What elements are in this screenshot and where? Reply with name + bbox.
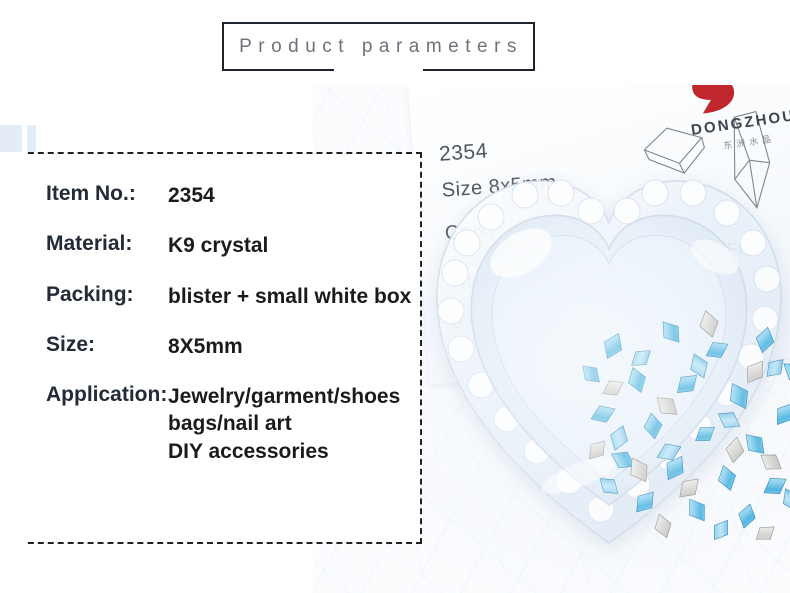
page-title: Product parameters <box>222 22 535 71</box>
spec-label-item-no: Item No.: <box>46 182 168 206</box>
spec-row-item-no: Item No.: 2354 <box>46 182 416 209</box>
page-title-box: Product parameters <box>222 22 535 71</box>
spec-label-size: Size: <box>46 333 168 357</box>
specs-panel-left-mask <box>0 152 26 544</box>
spec-value-material: K9 crystal <box>168 232 268 259</box>
spec-label-packing: Packing: <box>46 283 168 307</box>
spec-value-packing: blister + small white box <box>168 283 411 310</box>
spec-value-item-no: 2354 <box>168 182 215 209</box>
product-parameters-banner: 2354 Size 8x5mm Cryst Flat-Back 5 Gross … <box>0 0 790 593</box>
spec-row-packing: Packing: blister + small white box <box>46 283 416 310</box>
spec-row-application: Application: Jewelry/garment/shoes bags/… <box>46 383 416 465</box>
spec-row-material: Material: K9 crystal <box>46 232 416 259</box>
spec-row-size: Size: 8X5mm <box>46 333 416 360</box>
spec-value-size: 8X5mm <box>168 333 243 360</box>
spec-label-application: Application: <box>46 383 168 407</box>
spec-label-material: Material: <box>46 232 168 256</box>
spec-value-application: Jewelry/garment/shoes bags/nail art DIY … <box>168 383 400 465</box>
application-line-3: DIY accessories <box>168 438 400 465</box>
application-line-2: bags/nail art <box>168 410 400 437</box>
application-line-1: Jewelry/garment/shoes <box>168 383 400 410</box>
specs-list: Item No.: 2354 Material: K9 crystal Pack… <box>46 182 416 465</box>
